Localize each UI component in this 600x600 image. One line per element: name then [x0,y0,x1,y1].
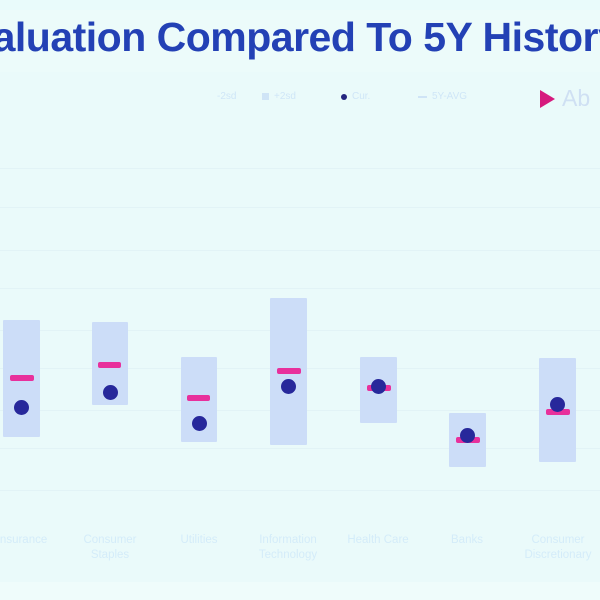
title-band: Valuation Compared To 5Y History [0,10,600,72]
current-marker[interactable] [460,428,475,443]
bar-group[interactable] [181,118,217,530]
bar-group[interactable] [539,118,576,530]
legend-dash-icon [418,96,427,98]
chart-screenshot: Valuation Compared To 5Y History -2sd +2… [0,0,600,600]
legend-dot-icon [341,94,347,100]
legend-item-current[interactable]: Cur. [341,91,370,102]
legend-item-5y-avg[interactable]: 5Y-AVG [418,91,467,102]
legend-label-5y-avg: 5Y-AVG [432,91,467,102]
x-axis-label: Consumer Discretionary [503,533,600,563]
legend-label-plus-2sd: +2sd [274,91,296,102]
current-marker[interactable] [371,379,386,394]
play-overlay[interactable]: Ab [540,85,590,112]
bar-group[interactable] [449,118,486,530]
frame-bottom-band [0,582,600,600]
current-marker[interactable] [550,397,565,412]
bar-group[interactable] [270,118,307,530]
bar-group[interactable] [92,118,128,530]
current-marker[interactable] [192,416,207,431]
plot-area [0,118,600,530]
legend-item-minus-2sd[interactable]: -2sd [205,91,236,102]
bar-group[interactable] [360,118,397,530]
legend-blank-swatch-icon [205,93,212,100]
legend-label-current: Cur. [352,91,370,102]
play-overlay-label: Ab [562,85,590,112]
avg-marker[interactable] [98,362,121,368]
legend-label-minus-2sd: -2sd [217,91,236,102]
current-marker[interactable] [103,385,118,400]
legend-item-plus-2sd[interactable]: +2sd [262,91,296,102]
legend-square-icon [262,93,269,100]
avg-marker[interactable] [187,395,210,401]
current-marker[interactable] [281,379,296,394]
avg-marker[interactable] [10,375,34,381]
chart-legend: -2sd +2sd Cur. 5Y-AVG [0,86,600,112]
current-marker[interactable] [14,400,29,415]
avg-marker[interactable] [277,368,301,374]
play-triangle-icon[interactable] [540,90,555,108]
page-title: Valuation Compared To 5Y History [0,14,600,61]
bar-group[interactable] [3,118,40,530]
